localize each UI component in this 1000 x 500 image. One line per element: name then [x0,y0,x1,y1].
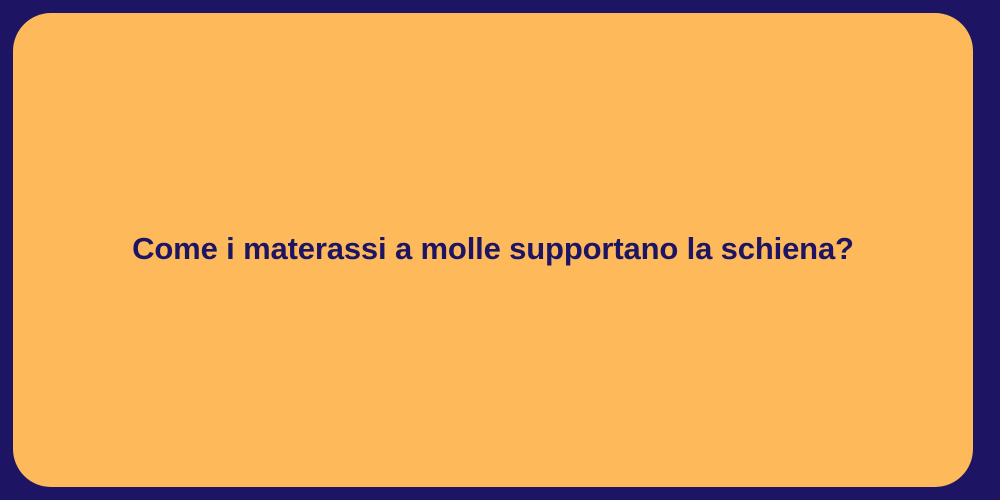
content-panel: Come i materassi a molle supportano la s… [13,13,973,487]
banner-root: Come i materassi a molle supportano la s… [0,0,1000,500]
page-title: Come i materassi a molle supportano la s… [13,230,973,268]
